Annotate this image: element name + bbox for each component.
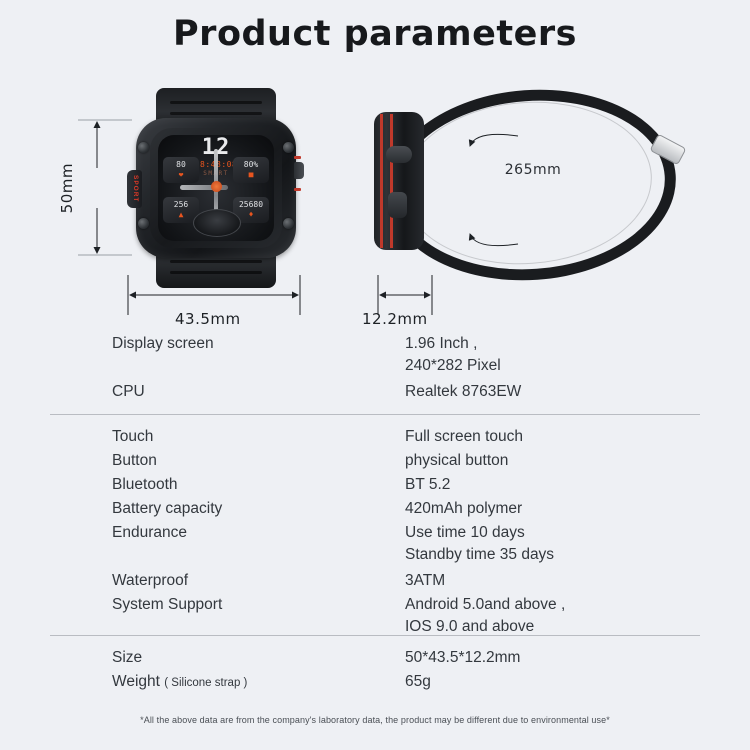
sport-label: SPORT (129, 172, 141, 206)
watch-subdial (193, 209, 241, 237)
spec-label: Bluetooth (112, 473, 178, 497)
spec-row: Battery capacity 420mAh polymer (0, 497, 750, 521)
spec-label: Display screen (112, 332, 214, 356)
watch-case: SPORT 12 18:48:08 SMART 80 ❤ 80% ■ (136, 118, 296, 258)
screw-bolt-icon (138, 218, 149, 229)
spec-row: System Support Android 5.0and above , IO… (0, 593, 750, 637)
screw-bolt-icon (283, 142, 294, 153)
tile-value: 256 (174, 200, 188, 209)
spec-label: Button (112, 449, 157, 473)
spec-row: Touch Full screen touch (0, 425, 750, 449)
spec-value-line1: 65g (405, 670, 431, 694)
spec-group-3: Size 50*43.5*12.2mm Weight ( Silicone st… (0, 646, 750, 694)
side-button (388, 192, 407, 218)
spec-label: Size (112, 646, 142, 670)
spec-row: CPU Realtek 8763EW (0, 380, 750, 404)
watch-front-view: SPORT 12 18:48:08 SMART 80 ❤ 80% ■ (130, 88, 302, 288)
product-illustrations: SPORT 12 18:48:08 SMART 80 ❤ 80% ■ (0, 80, 750, 335)
screw-bolt-icon (138, 142, 149, 153)
crown-button (386, 146, 412, 163)
spec-value-line1: 50*43.5*12.2mm (405, 646, 520, 670)
watch-tile-heartrate: 80 ❤ (163, 157, 199, 183)
screw-bolt-icon (283, 218, 294, 229)
watch-hand-hub (211, 181, 222, 192)
watch-side-view: 265mm (368, 84, 698, 299)
page-title: Product parameters (0, 14, 750, 54)
spec-label: Waterproof (112, 569, 188, 593)
spec-label: Battery capacity (112, 497, 222, 521)
battery-icon: ■ (233, 170, 269, 179)
tile-value: 25680 (239, 200, 263, 209)
spec-value: Use time 10 days Standby time 35 days (405, 522, 554, 566)
spec-label: Touch (112, 425, 153, 449)
divider (50, 635, 700, 636)
spec-value-line2: 240*282 Pixel (405, 355, 501, 377)
strap-circumference-label: 265mm (458, 162, 608, 178)
watch-bezel: 12 18:48:08 SMART 80 ❤ 80% ■ 256 ▲ (150, 128, 282, 248)
spec-row: Display screen 1.96 Inch , 240*282 Pixel (0, 332, 750, 376)
spec-row: Waterproof 3ATM (0, 569, 750, 593)
spec-value-line1: Realtek 8763EW (405, 380, 521, 404)
spec-value-line1: Use time 10 days (405, 524, 525, 541)
accent-stripe (294, 156, 301, 159)
crown-button (294, 162, 304, 179)
dimension-thickness-label: 12.2mm (362, 310, 428, 328)
tile-value: 80 (176, 160, 186, 169)
divider (50, 414, 700, 415)
spec-group-1: Display screen 1.96 Inch , 240*282 Pixel… (0, 332, 750, 404)
spec-row: Button physical button (0, 449, 750, 473)
spec-row: Bluetooth BT 5.2 (0, 473, 750, 497)
spec-value-line1: 3ATM (405, 569, 445, 593)
spec-value-line1: physical button (405, 449, 508, 473)
spec-value: Android 5.0and above , IOS 9.0 and above (405, 594, 565, 638)
spec-value-line1: Full screen touch (405, 425, 523, 449)
accent-stripe (294, 188, 301, 191)
spec-value-line1: Android 5.0and above , (405, 596, 565, 613)
watch-screen: 12 18:48:08 SMART 80 ❤ 80% ■ 256 ▲ (158, 135, 274, 241)
spec-row: Weight ( Silicone strap ) 65g (0, 670, 750, 694)
dimension-height-label: 50mm (58, 163, 76, 213)
spec-value-line2: Standby time 35 days (405, 544, 554, 566)
spec-label: System Support (112, 593, 222, 617)
spec-label: Weight ( Silicone strap ) (112, 670, 247, 695)
accent-stripe (390, 114, 393, 248)
spec-row: Endurance Use time 10 days Standby time … (0, 521, 750, 565)
footnote: *All the above data are from the company… (0, 715, 750, 725)
spec-label: Endurance (112, 521, 187, 545)
tile-value: 80% (244, 160, 258, 169)
spec-value-line1: 420mAh polymer (405, 497, 522, 521)
dimension-width-label: 43.5mm (175, 310, 241, 328)
spec-value-line1: 1.96 Inch , (405, 335, 477, 352)
spec-value-line1: BT 5.2 (405, 473, 450, 497)
accent-stripe (380, 114, 383, 248)
spec-label-main: Weight (112, 673, 160, 690)
watch-tile-battery: 80% ■ (233, 157, 269, 183)
spec-value: 1.96 Inch , 240*282 Pixel (405, 333, 501, 377)
spec-group-2: Touch Full screen touch Button physical … (0, 425, 750, 637)
spec-row: Size 50*43.5*12.2mm (0, 646, 750, 670)
spec-label: CPU (112, 380, 145, 404)
spec-label-note: ( Silicone strap ) (164, 677, 247, 689)
heart-icon: ❤ (163, 170, 199, 179)
